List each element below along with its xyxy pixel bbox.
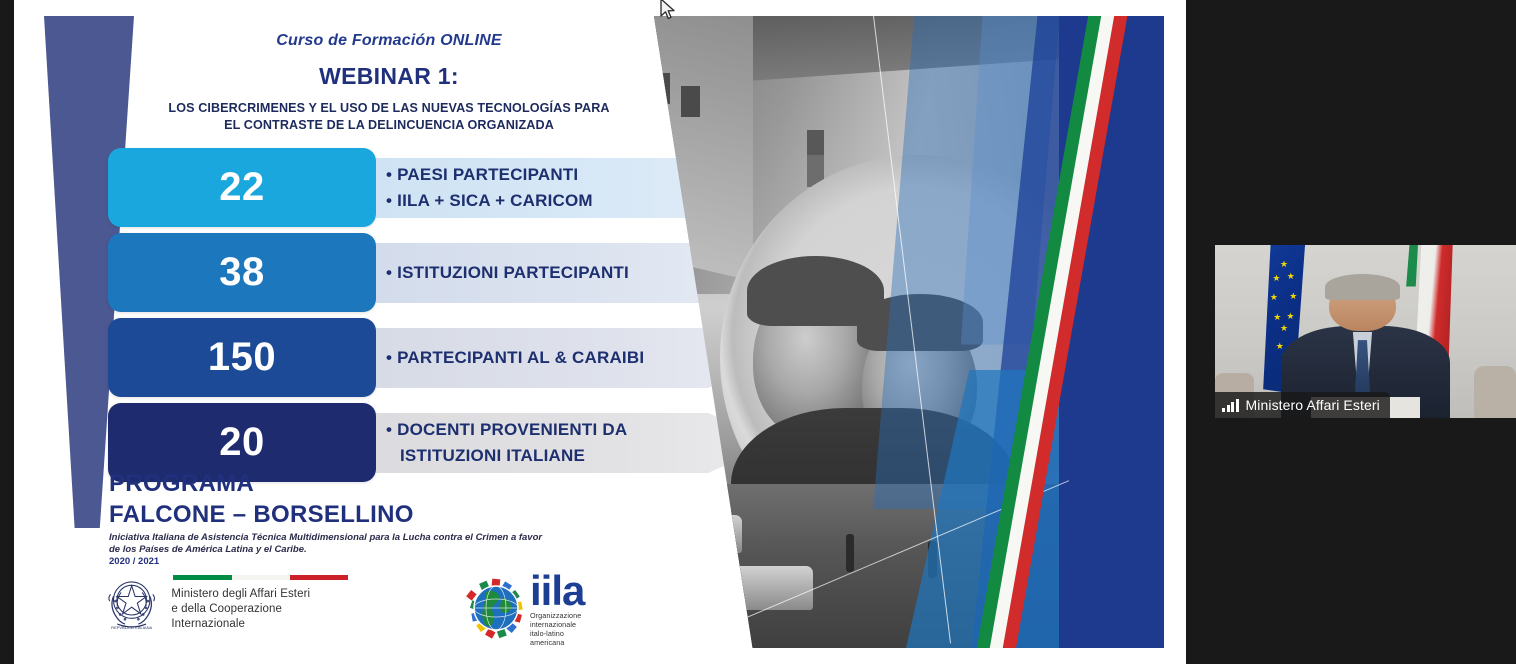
chair-right <box>1474 366 1516 418</box>
svg-text:REPVBLICA ITALIANA: REPVBLICA ITALIANA <box>111 625 152 630</box>
iila-logo: iila Organizzazione internazionale italo… <box>464 570 584 647</box>
stat-bullet: •IILA + SICA + CARICOM <box>386 188 593 214</box>
iila-wordmark: iila <box>530 570 584 612</box>
bullet-dot-icon: • <box>386 348 392 367</box>
screen-share-region[interactable]: Curso de Formación ONLINE WEBINAR 1: LOS… <box>0 0 1186 664</box>
webinar-title: WEBINAR 1: <box>144 63 634 90</box>
presentation-slide: Curso de Formación ONLINE WEBINAR 1: LOS… <box>14 0 1186 664</box>
participant-name: Ministero Affari Esteri <box>1246 397 1380 413</box>
stat-bullet: •ISTITUZIONI PARTECIPANTI <box>386 260 629 286</box>
course-label: Curso de Formación ONLINE <box>144 32 634 50</box>
mouse-pointer-icon <box>659 0 677 22</box>
stat-bullet-text: PARTECIPANTI AL & CARAIBI <box>397 348 644 367</box>
stat-bullet-text: DOCENTI PROVENIENTI DA <box>397 420 627 439</box>
stat-bullet: •PARTECIPANTI AL & CARAIBI <box>386 345 644 371</box>
programme-line-2: FALCONE – BORSELLINO <box>109 499 709 530</box>
speaker-video-thumbnail[interactable]: ★ ★ ★ ★ ★ ★ ★ ★ ★ ★ Ministero Affari Est… <box>1215 245 1516 418</box>
stat-number-box: 22 <box>108 148 376 227</box>
italian-republic-emblem-icon: REPVBLICA ITALIANA <box>102 568 161 638</box>
stat-number-box: 150 <box>108 318 376 397</box>
signal-bars-icon <box>1222 399 1239 412</box>
iila-subtitle: Organizzazione internazionale italo-lati… <box>530 611 584 647</box>
bullet-dot-icon: • <box>386 263 392 282</box>
webinar-subtitle: LOS CIBERCRIMENES Y EL USO DE LAS NUEVAS… <box>134 100 644 134</box>
stat-bullet: ISTITUZIONI ITALIANE <box>386 443 627 469</box>
speaker-hair <box>1325 274 1400 300</box>
programme-description: Iniciativa Italiana de Asistencia Técnic… <box>109 532 549 555</box>
stat-bullet-text: ISTITUZIONI PARTECIPANTI <box>397 263 629 282</box>
programme-block: PROGRAMA FALCONE – BORSELLINO Iniciativa… <box>109 468 709 567</box>
iila-globe-icon <box>464 578 528 642</box>
stat-bullet-text: PAESI PARTECIPANTI <box>397 165 578 184</box>
ministry-name-line-1: Ministero degli Affari Esteri <box>171 587 351 602</box>
bullet-dot-icon: • <box>386 191 392 210</box>
stat-bullet: •DOCENTI PROVENIENTI DA <box>386 417 627 443</box>
falcone-borsellino-mural-photo <box>632 16 1164 648</box>
programme-line-1: PROGRAMA <box>109 468 709 499</box>
stat-bullet-text: ISTITUZIONI ITALIANE <box>400 446 585 465</box>
meeting-window: Curso de Formación ONLINE WEBINAR 1: LOS… <box>0 0 1516 664</box>
bullet-dot-icon: • <box>386 165 392 184</box>
ministry-name-line-2: e della Cooperazione Internazionale <box>171 602 351 632</box>
programme-years: 2020 / 2021 <box>109 556 709 567</box>
stat-number-box: 38 <box>108 233 376 312</box>
participant-name-badge: Ministero Affari Esteri <box>1215 392 1390 418</box>
bullet-dot-icon: • <box>386 420 392 439</box>
ministry-logo: REPVBLICA ITALIANA Ministero degli Affar… <box>102 568 351 638</box>
stat-bullet-text: IILA + SICA + CARICOM <box>397 191 593 210</box>
stat-bullet: •PAESI PARTECIPANTI <box>386 162 593 188</box>
italian-tricolor-bar-icon <box>173 575 348 580</box>
